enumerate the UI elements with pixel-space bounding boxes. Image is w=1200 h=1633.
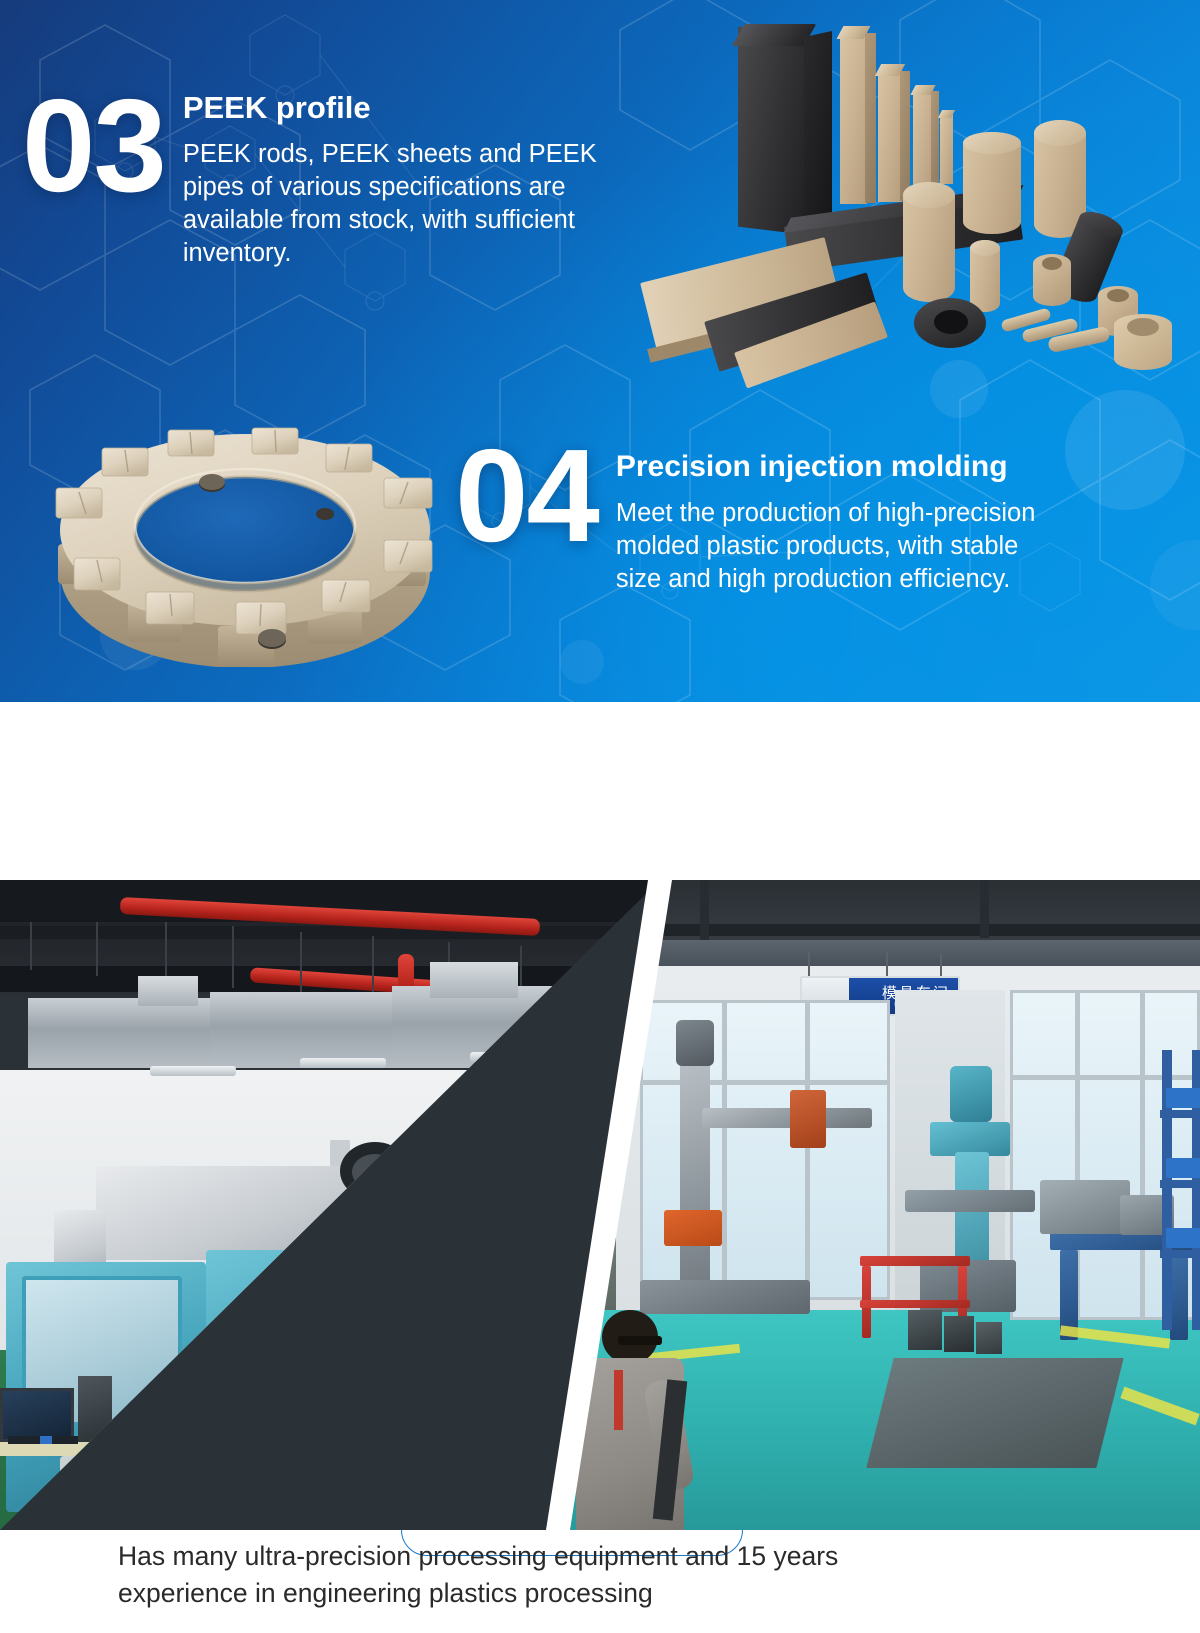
features-blue-panel: 03 PEEK profile PEEK rods, PEEK sheets a… bbox=[0, 0, 1200, 702]
factory-photos: 模具车间 Mold Workshop bbox=[0, 880, 1200, 1530]
feature-03-description: PEEK rods, PEEK sheets and PEEK pipes of… bbox=[183, 138, 613, 271]
feature-03-number: 03 bbox=[22, 84, 165, 208]
peek-gear-ring-image bbox=[40, 392, 450, 667]
feature-04-title: Precision injection molding bbox=[616, 450, 1046, 485]
feature-04-number: 04 bbox=[455, 434, 598, 558]
peek-profile-product-image bbox=[618, 14, 1198, 364]
page-caption: Has many ultra-precision processing equi… bbox=[118, 1538, 1118, 1612]
caption-line-1: Has many ultra-precision processing equi… bbox=[118, 1538, 1118, 1575]
feature-04: 04 Precision injection molding Meet the … bbox=[455, 434, 1155, 596]
feature-04-description: Meet the production of high-precision mo… bbox=[616, 497, 1046, 596]
our-strengths-banner: Our strengths bbox=[0, 702, 1200, 882]
feature-03: 03 PEEK profile PEEK rods, PEEK sheets a… bbox=[22, 84, 662, 270]
product-feature-page: 03 PEEK profile PEEK rods, PEEK sheets a… bbox=[0, 0, 1200, 1633]
caption-line-2: experience in engineering plastics proce… bbox=[118, 1575, 1118, 1612]
feature-03-title: PEEK profile bbox=[183, 90, 613, 126]
photo-cnc-workshop bbox=[0, 880, 660, 1530]
